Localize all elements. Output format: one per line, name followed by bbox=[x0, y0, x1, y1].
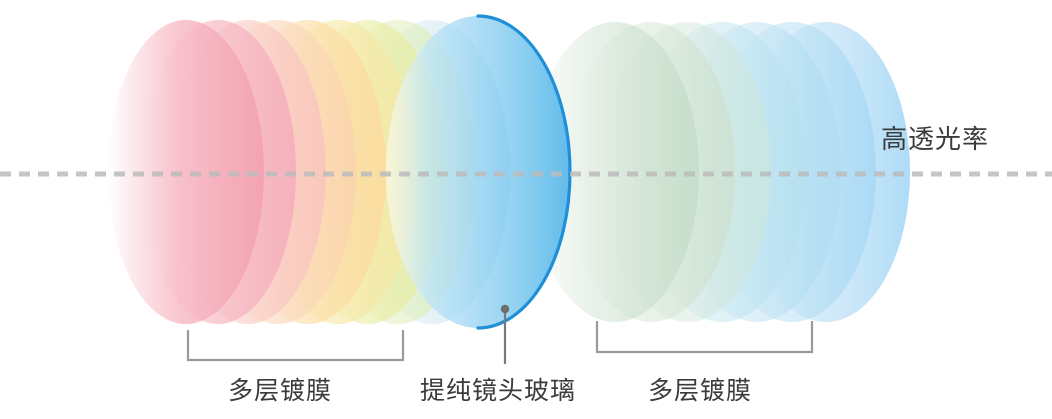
bracket-right bbox=[597, 321, 812, 352]
pointer-dot-icon bbox=[501, 305, 509, 313]
lens-group-coating-right bbox=[531, 22, 910, 322]
lens-coating-diagram: 多层镀膜 提纯镜头玻璃 多层镀膜 高透光率 bbox=[0, 0, 1052, 419]
bracket-left bbox=[188, 330, 403, 360]
caption-purified-glass: 提纯镜头玻璃 bbox=[420, 376, 576, 406]
label-high-transmittance: 高透光率 bbox=[881, 124, 989, 154]
diagram-canvas bbox=[0, 0, 1052, 419]
caption-coating-right: 多层镀膜 bbox=[648, 376, 752, 406]
caption-coating-left: 多层镀膜 bbox=[228, 376, 332, 406]
lens-element bbox=[108, 20, 264, 324]
